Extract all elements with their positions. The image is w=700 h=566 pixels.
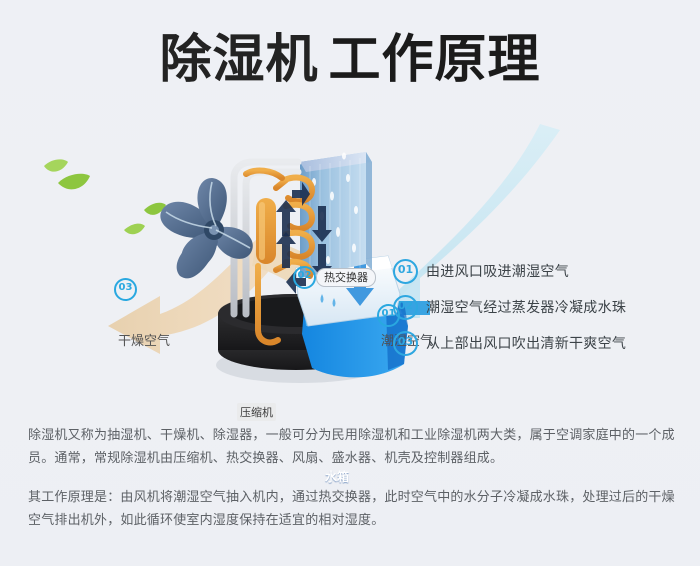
legend-badge-02: 02 xyxy=(393,295,418,320)
legend-list: 01 由进风口吸进潮湿空气 02 潮湿空气经过蒸发器冷凝成水珠 03 从上部出风… xyxy=(393,253,683,361)
label-heat-exchanger: 热交换器 xyxy=(316,268,376,287)
legend-badge-01: 01 xyxy=(393,259,418,284)
legend-label-01: 由进风口吸进潮湿空气 xyxy=(426,261,569,281)
legend-badge-03: 03 xyxy=(393,331,418,356)
paragraph-2: 其工作原理是：由风机将潮湿空气抽入机内，通过热交换器，此时空气中的水分子冷凝成水… xyxy=(28,486,676,532)
page-root: 除湿机工作原理 xyxy=(0,0,700,566)
page-title-sub: 工作原理 xyxy=(329,30,541,90)
page-title: 除湿机工作原理 xyxy=(0,30,700,90)
legend-item-03: 03 从上部出风口吹出清新干爽空气 xyxy=(393,325,683,361)
body-copy: 除湿机又称为抽湿机、干燥机、除湿器，一般可分为民用除湿机和工业除湿机两大类，属于… xyxy=(28,424,676,532)
legend-label-02: 潮湿空气经过蒸发器冷凝成水珠 xyxy=(426,297,626,317)
label-compressor: 压缩机 xyxy=(237,403,276,421)
diagram-badge-03: 03 xyxy=(114,278,137,301)
leaf-icons xyxy=(44,159,166,234)
paragraph-1: 除湿机又称为抽湿机、干燥机、除湿器，一般可分为民用除湿机和工业除湿机两大类，属于… xyxy=(28,424,676,470)
legend-label-03: 从上部出风口吹出清新干爽空气 xyxy=(426,333,626,353)
page-title-main: 除湿机 xyxy=(159,30,318,90)
legend-item-01: 01 由进风口吸进潮湿空气 xyxy=(393,253,683,289)
diagram-badge-02: 02 xyxy=(293,266,316,289)
label-dry-air: 干燥空气 xyxy=(118,330,170,349)
legend-item-02: 02 潮湿空气经过蒸发器冷凝成水珠 xyxy=(393,289,683,325)
